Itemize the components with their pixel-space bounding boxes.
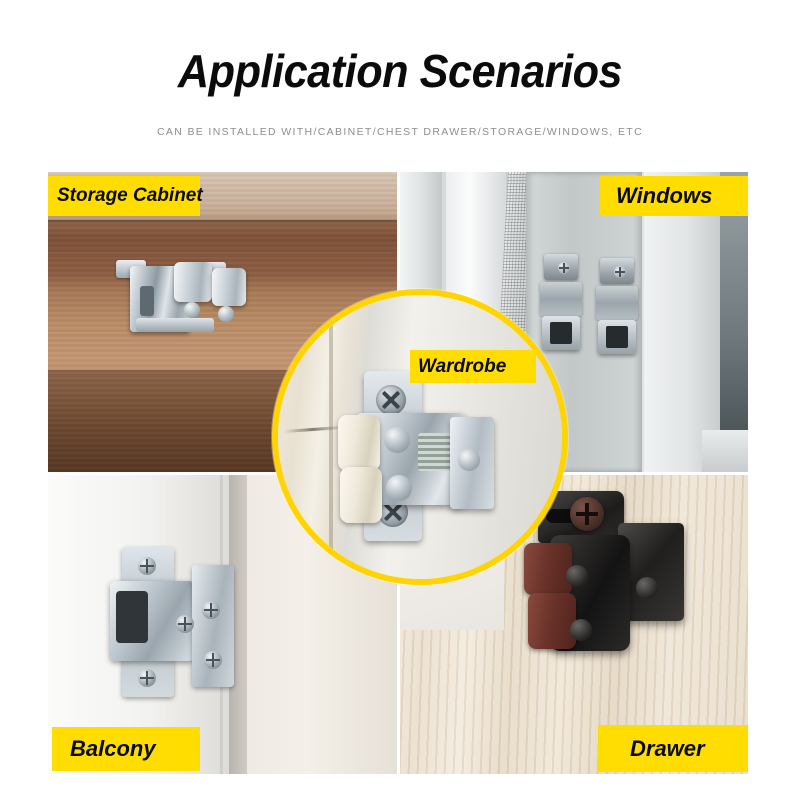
label-badge-windows: Windows <box>600 176 748 216</box>
badge-text: Windows <box>616 183 712 209</box>
pivot-pin-three <box>636 577 658 599</box>
label-badge-storage-cabinet: Storage Cabinet <box>48 176 200 216</box>
page-title: Application Scenarios <box>24 44 776 98</box>
door-edge-line <box>329 295 333 579</box>
wardrobe-circle-inset[interactable] <box>272 289 568 585</box>
nut-one <box>184 302 200 318</box>
badge-text: Storage Cabinet <box>57 185 203 207</box>
white-roller-one <box>338 415 380 471</box>
header: Application Scenarios CAN BE INSTALLED W… <box>0 0 800 172</box>
window-latch-right <box>596 258 640 356</box>
zinc-catch-hardware <box>114 547 250 703</box>
screw-bottom <box>138 669 156 687</box>
wardrobe-double-roller-catch <box>342 371 512 547</box>
latch-cap <box>600 258 634 284</box>
strike-rivet <box>458 449 480 471</box>
white-roller-two <box>340 467 382 523</box>
nut-two <box>386 475 412 501</box>
pivot-pin-two <box>570 619 592 641</box>
roller-two <box>528 593 576 649</box>
screw-top <box>138 557 156 575</box>
label-badge-drawer: Drawer <box>598 725 748 772</box>
latch-screw <box>614 266 626 278</box>
phillips-screw-top <box>376 385 406 415</box>
page-subtitle: CAN BE INSTALLED WITH/CABINET/CHEST DRAW… <box>0 126 800 138</box>
nut-two <box>218 306 234 322</box>
roller-one <box>174 262 212 302</box>
screw-strike-bottom <box>204 651 222 669</box>
nut-one <box>384 427 410 453</box>
shelf-shadow <box>48 220 397 226</box>
roller-two <box>212 268 246 306</box>
badge-text: Balcony <box>70 736 156 762</box>
chrome-roller-catch-hardware <box>130 260 248 338</box>
badge-text: Wardrobe <box>418 356 506 378</box>
latch-cap <box>544 254 578 280</box>
label-badge-balcony: Balcony <box>52 727 200 771</box>
window-sill <box>702 430 748 472</box>
screw-center <box>176 615 194 633</box>
catch-base-plate <box>136 318 214 332</box>
pivot-pin-one <box>566 565 588 587</box>
label-badge-wardrobe: Wardrobe <box>410 350 536 383</box>
screw-strike-top <box>202 601 220 619</box>
mounting-screw <box>570 497 604 531</box>
threaded-bolt <box>418 433 454 471</box>
latch-mid-body <box>596 286 638 320</box>
window-glass-pane <box>720 172 748 472</box>
catch-slot <box>140 286 154 316</box>
latch-screw <box>558 262 570 274</box>
latch-keeper <box>598 320 636 354</box>
window-stile <box>644 172 722 472</box>
badge-text: Drawer <box>630 736 705 762</box>
